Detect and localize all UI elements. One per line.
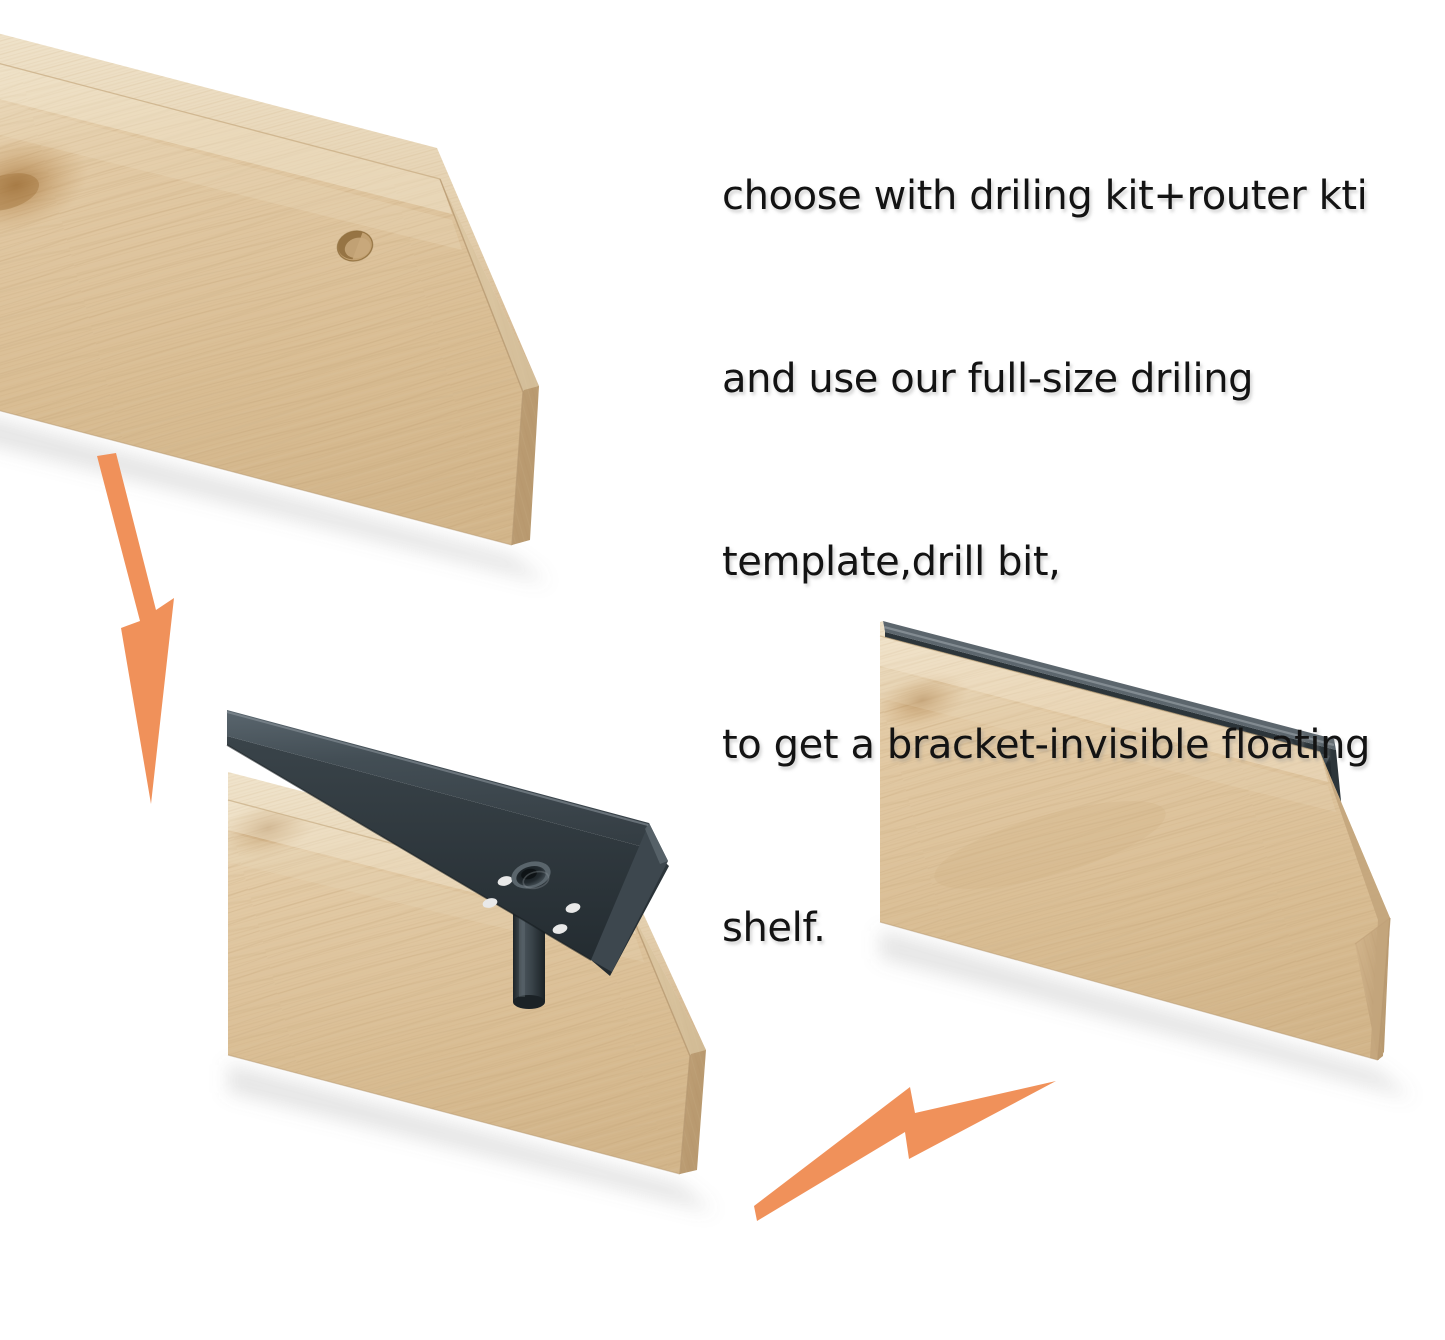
instruction-text: choose with driling kit+router kti and u…	[722, 44, 1422, 1081]
instruction-line-4: to get a bracket-invisible floating	[722, 715, 1422, 776]
instruction-line-1: choose with driling kit+router kti	[722, 166, 1422, 227]
arrow-down-icon	[97, 453, 174, 804]
illustration-canvas: choose with driling kit+router kti and u…	[0, 0, 1445, 1340]
instruction-line-2: and use our full-size driling	[722, 349, 1422, 410]
arrow-up-right-icon	[754, 1081, 1056, 1221]
instruction-line-5: shelf.	[722, 898, 1422, 959]
instruction-line-3: template,drill bit,	[722, 532, 1422, 593]
board-middle-group	[210, 710, 730, 1212]
board-top-group	[0, 0, 620, 600]
